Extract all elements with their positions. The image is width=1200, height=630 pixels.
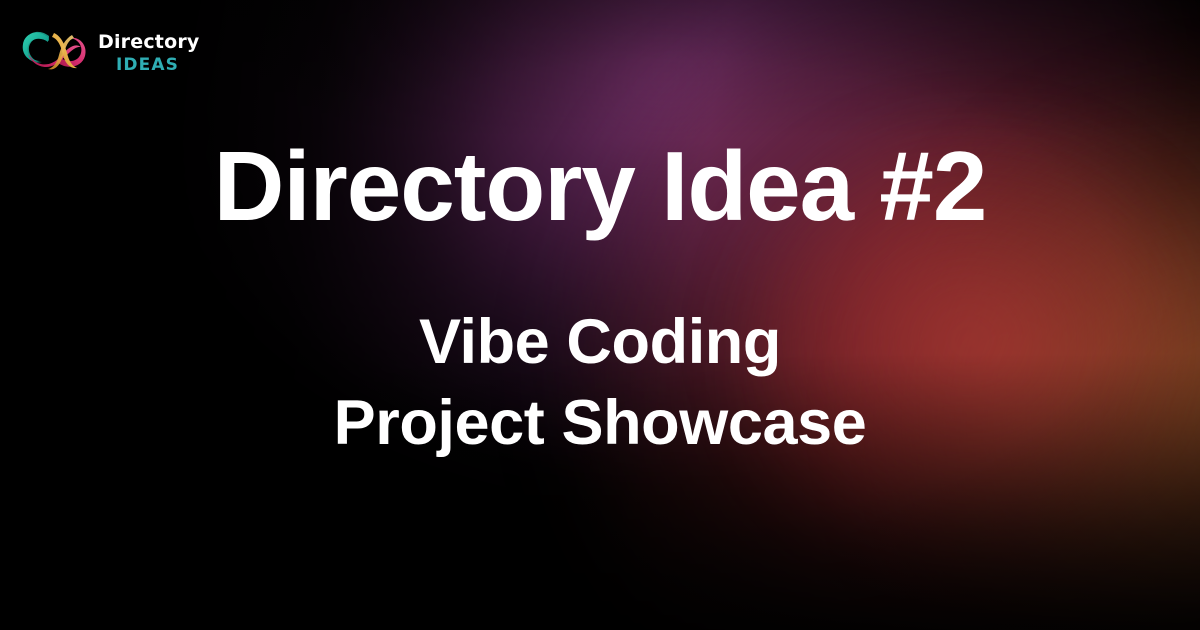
card-subtitle-line-1: Vibe Coding bbox=[334, 302, 867, 384]
infinity-ribbon-logo-icon bbox=[18, 24, 90, 80]
card-subtitle: Vibe Coding Project Showcase bbox=[334, 302, 867, 466]
card-content: Directory Idea #2 Vibe Coding Project Sh… bbox=[0, 0, 1200, 630]
brand-word-ideas: IDEAS bbox=[116, 57, 200, 74]
card-subtitle-line-2: Project Showcase bbox=[334, 383, 867, 465]
brand-logo-lockup[interactable]: Directory IDEAS bbox=[18, 24, 200, 80]
page-title: Directory Idea #2 bbox=[214, 135, 987, 238]
brand-wordmark: Directory IDEAS bbox=[98, 31, 200, 74]
brand-word-directory: Directory bbox=[98, 33, 200, 52]
og-card: Directory IDEAS Directory Idea #2 Vibe C… bbox=[0, 0, 1200, 630]
